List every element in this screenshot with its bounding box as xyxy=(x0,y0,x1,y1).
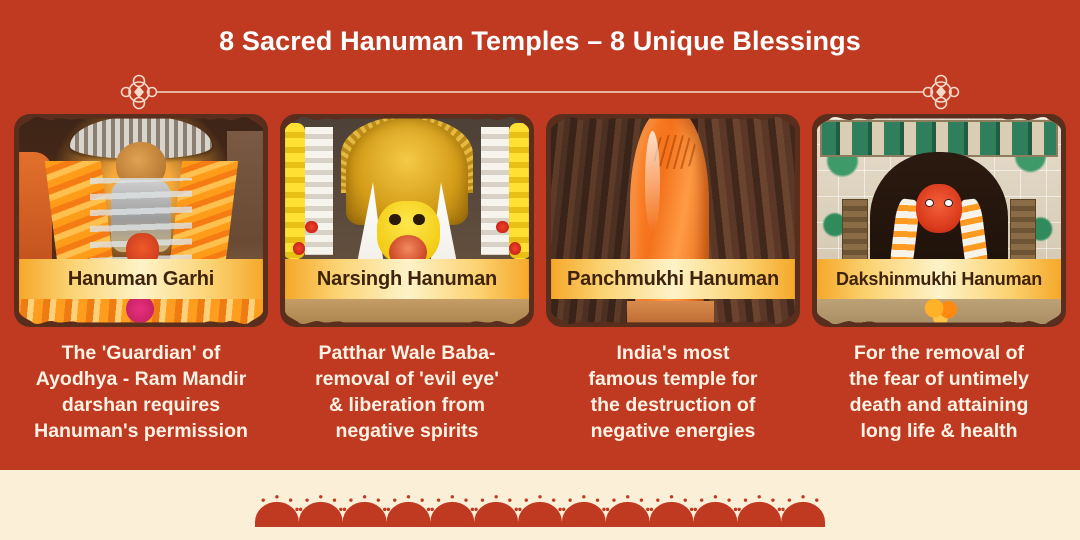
temple-caption: Patthar Wale Baba- removal of 'evil eye'… xyxy=(280,341,534,445)
temple-card[interactable]: Narsingh Hanuman Patthar Wale Baba- remo… xyxy=(280,114,534,462)
temple-caption: For the removal of the fear of untimely … xyxy=(812,341,1066,445)
temple-name-band: Narsingh Hanuman xyxy=(280,259,534,299)
scalloped-arch-border xyxy=(255,487,825,529)
temple-caption: The 'Guardian' of Ayodhya - Ram Mandir d… xyxy=(14,341,268,445)
temple-image-frame: Dakshinmukhi Hanuman xyxy=(812,114,1066,327)
temple-image-frame: Panchmukhi Hanuman xyxy=(546,114,800,327)
temple-name: Narsingh Hanuman xyxy=(317,268,497,291)
knot-flourish-ornament-left xyxy=(122,76,157,109)
temple-name: Hanuman Garhi xyxy=(68,268,214,291)
temple-image-frame: Hanuman Garhi xyxy=(14,114,268,327)
temple-card[interactable]: Hanuman Garhi The 'Guardian' of Ayodhya … xyxy=(14,114,268,462)
temple-name-band: Panchmukhi Hanuman xyxy=(546,259,800,299)
temple-card[interactable]: Dakshinmukhi Hanuman For the removal of … xyxy=(812,114,1066,462)
decorative-divider xyxy=(112,74,968,110)
temple-image-frame: Narsingh Hanuman xyxy=(280,114,534,327)
temple-name-band: Dakshinmukhi Hanuman xyxy=(812,259,1066,299)
infographic-poster: 8 Sacred Hanuman Temples – 8 Unique Bles… xyxy=(0,0,1080,540)
knot-flourish-ornament-right xyxy=(924,76,959,109)
temple-name-band: Hanuman Garhi xyxy=(14,259,268,299)
temple-name: Dakshinmukhi Hanuman xyxy=(836,269,1042,290)
temple-card[interactable]: Panchmukhi Hanuman India's most famous t… xyxy=(546,114,800,462)
temple-caption: India's most famous temple for the destr… xyxy=(546,341,800,445)
page-title: 8 Sacred Hanuman Temples – 8 Unique Bles… xyxy=(0,26,1080,57)
temple-card-row: Hanuman Garhi The 'Guardian' of Ayodhya … xyxy=(14,114,1066,462)
temple-name: Panchmukhi Hanuman xyxy=(567,268,779,291)
